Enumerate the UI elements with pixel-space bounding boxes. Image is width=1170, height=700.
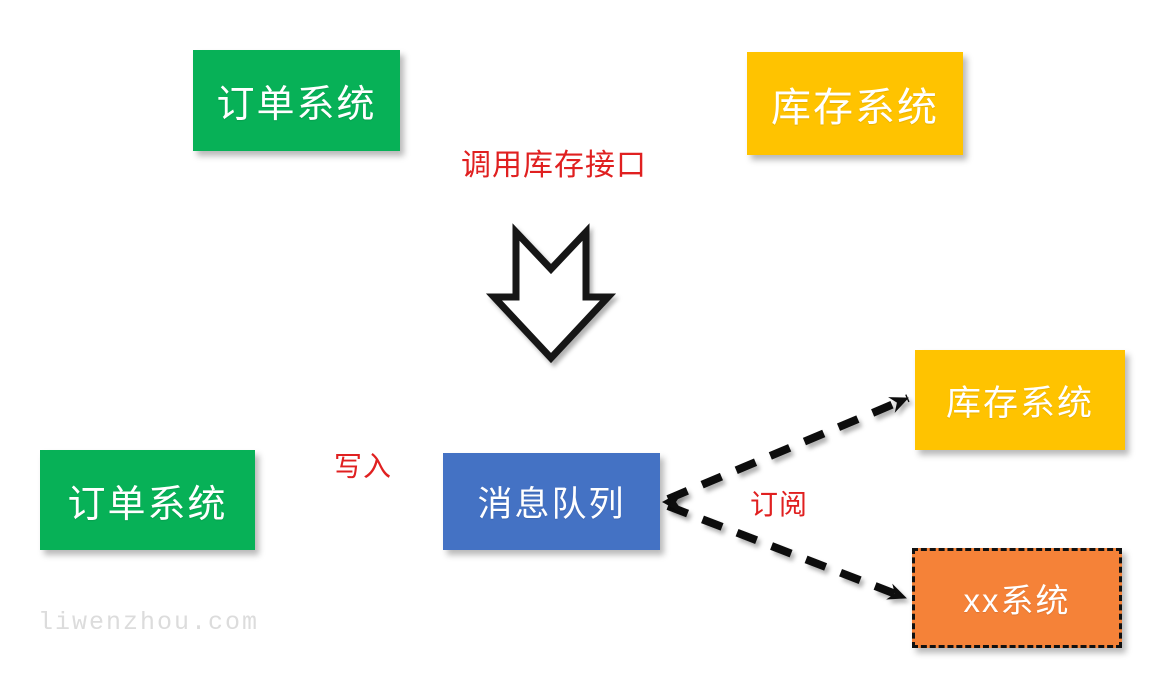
node-inventory-system-top[interactable]: 库存系统 — [747, 52, 963, 155]
node-label: 库存系统 — [946, 375, 1094, 426]
edge-label-order-to-queue: 写入 — [334, 445, 392, 485]
node-message-queue[interactable]: 消息队列 — [443, 453, 660, 550]
node-xx-system[interactable]: xx系统 — [912, 548, 1122, 648]
edge-label-queue-to-inventory: 订阅 — [750, 483, 808, 523]
node-order-system-top[interactable]: 订单系统 — [193, 50, 400, 151]
node-label: 订单系统 — [67, 473, 227, 528]
node-label: 订单系统 — [216, 73, 376, 128]
edge-label-order-to-inventory: 调用库存接口 — [461, 140, 647, 184]
big-down-arrow-icon — [494, 232, 608, 358]
node-label: xx系统 — [964, 574, 1071, 622]
diagram-canvas: 订单系统 库存系统 调用库存接口 订单系统 消息队列 库存系统 xx系统 写入 … — [0, 0, 1170, 700]
node-label: 消息队列 — [477, 476, 625, 527]
node-inventory-system-bottom[interactable]: 库存系统 — [915, 350, 1125, 450]
node-label: 库存系统 — [771, 75, 939, 133]
node-order-system-bottom[interactable]: 订单系统 — [40, 450, 255, 550]
queue-inbound-arrowhead-icon — [662, 490, 684, 514]
watermark: liwenzhou.com — [38, 608, 259, 637]
